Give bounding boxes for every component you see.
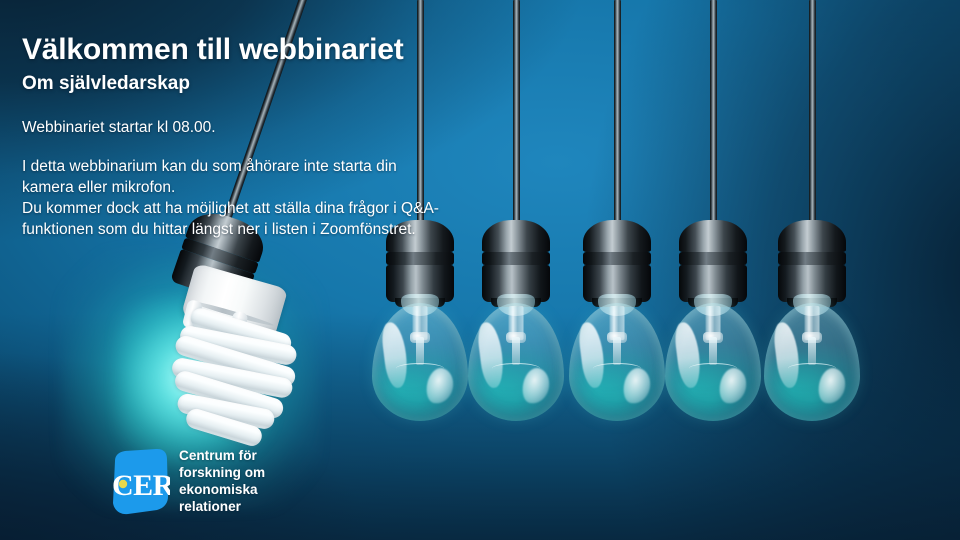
bulb-glass	[372, 303, 468, 421]
page-subtitle: Om självledarskap	[22, 73, 452, 96]
incandescent-bulb-3	[569, 0, 665, 430]
bulb-glass	[569, 303, 665, 421]
socket-top	[482, 220, 550, 252]
bulb-cord	[809, 0, 816, 222]
socket-band	[583, 252, 651, 265]
socket-band	[482, 252, 550, 265]
cfl-bulb-spiral	[155, 306, 310, 459]
bulb-socket	[679, 220, 747, 302]
bulb-glass	[468, 303, 564, 421]
text-block: Välkommen till webbinariet Om självledar…	[22, 33, 452, 240]
socket-band	[386, 252, 454, 265]
incandescent-bulb-2	[468, 0, 564, 430]
socket-band	[679, 252, 747, 265]
bulb-socket	[778, 220, 846, 302]
webinar-title-slide: Välkommen till webbinariet Om självledar…	[0, 0, 960, 540]
bulb-rim-shading	[764, 303, 860, 421]
bulb-cord	[513, 0, 520, 222]
bulb-rim-shading	[569, 303, 665, 421]
cer-logo: CER Centrum för forskning om ekonomiska …	[108, 448, 265, 515]
bulb-rim-shading	[665, 303, 761, 421]
start-time-text: Webbinariet startar kl 08.00.	[22, 118, 452, 138]
cer-logo-name: Centrum för forskning om ekonomiska rela…	[179, 448, 265, 515]
bulb-glass	[764, 303, 860, 421]
socket-top	[778, 220, 846, 252]
socket-band	[778, 252, 846, 265]
bulb-cord	[614, 0, 621, 222]
cer-logo-mark-icon: CER	[108, 448, 170, 515]
bulb-cord	[710, 0, 717, 222]
socket-top	[679, 220, 747, 252]
incandescent-bulb-5	[764, 0, 860, 430]
instructions-text: I detta webbinarium kan du som åhörare i…	[22, 156, 452, 240]
bulb-socket	[482, 220, 550, 302]
bulb-rim-shading	[468, 303, 564, 421]
bulb-glass	[665, 303, 761, 421]
incandescent-bulb-4	[665, 0, 761, 430]
bulb-socket	[583, 220, 651, 302]
bulb-rim-shading	[372, 303, 468, 421]
page-title: Välkommen till webbinariet	[22, 33, 452, 67]
socket-top	[583, 220, 651, 252]
